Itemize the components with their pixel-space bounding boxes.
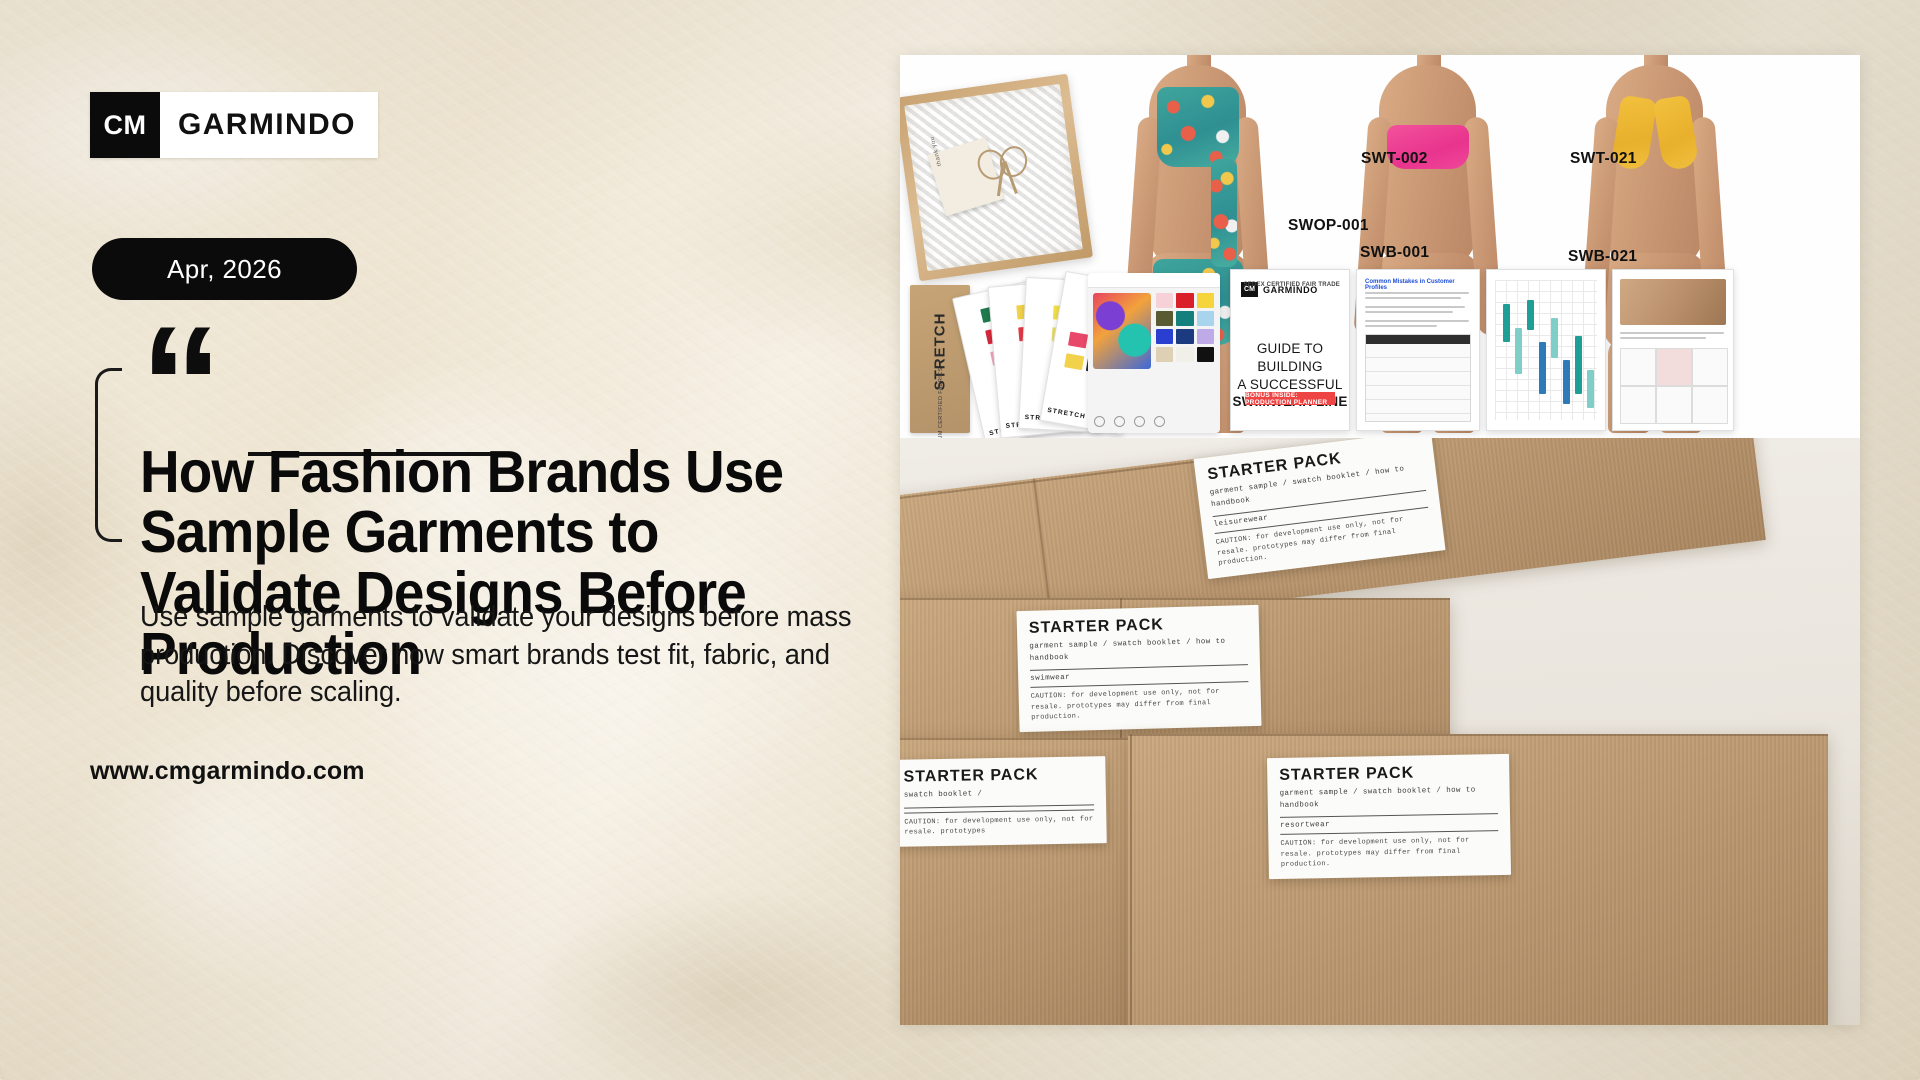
booklet-title-line2: A SUCCESSFUL	[1237, 377, 1342, 392]
product-code-swb-001: SWB-001	[1360, 244, 1429, 262]
swimwear-guide-booklet: CM GARMINDO SEDEX CERTIFIED FAIR TRADE G…	[1230, 269, 1350, 431]
ribbon-bow-icon	[976, 140, 1034, 191]
decorative-bracket	[95, 368, 122, 542]
pack-label-caution: CAUTION: for development use only, not f…	[1280, 835, 1499, 870]
document-table	[1365, 334, 1471, 422]
reference-photo	[1620, 279, 1726, 325]
product-code-swt-002: SWT-002	[1361, 150, 1428, 168]
palette-icon	[1134, 416, 1145, 427]
garment-top-1	[1157, 87, 1239, 167]
pack-label-title: STARTER PACK	[903, 765, 1093, 786]
pack-label-title: STARTER PACK	[1279, 763, 1497, 785]
pack-label-caution: CAUTION: for development use only, not f…	[1031, 686, 1250, 723]
gift-box-photo: thank you	[900, 74, 1093, 282]
production-timeline-chart	[1486, 269, 1606, 431]
swatch-card-label: STRETCH	[1047, 407, 1087, 421]
palette-icon	[1114, 416, 1125, 427]
date-badge-label: Apr, 2026	[167, 254, 282, 285]
starter-pack-label-2: STARTER PACK garment sample / swatch boo…	[1016, 605, 1261, 732]
website-url[interactable]: www.cmgarmindo.com	[90, 757, 365, 786]
booklet-title-line1: GUIDE TO BUILDING	[1257, 341, 1323, 374]
customer-profile-document: Common Mistakes in Customer Profiles	[1356, 269, 1480, 431]
product-code-swop-001: SWOP-001	[1288, 217, 1369, 235]
starter-pack-label-4: STARTER PACK garment sample / swatch boo…	[1267, 754, 1511, 879]
palette-tool-icons	[1094, 416, 1165, 427]
pack-label-caution: CAUTION: for development use only, not f…	[904, 814, 1094, 838]
pack-label-contents: garment sample / swatch booklet / how to…	[1280, 785, 1498, 812]
pack-label-contents: garment sample / swatch booklet / how to…	[1029, 636, 1248, 665]
materials-documents-row: STRETCH PREMIUM CERTIFIED FABRICS STRETC…	[900, 265, 1860, 440]
quote-mark-icon: “	[140, 325, 219, 444]
logo-mark: CM	[90, 92, 160, 158]
palette-icon	[1094, 416, 1105, 427]
pack-label-category: resortwear	[1280, 818, 1498, 830]
palette-chip-grid	[1156, 293, 1214, 362]
product-code-swb-021: SWB-021	[1568, 248, 1637, 266]
booklet-certification: SEDEX CERTIFIED FAIR TRADE	[1243, 281, 1340, 290]
starter-pack-boxes-photo: STARTER PACK garment sample / swatch boo…	[900, 438, 1860, 1025]
pack-label-title: STARTER PACK	[1029, 614, 1247, 638]
pack-label-contents: swatch booklet /	[904, 787, 1094, 802]
pack-label-category: swimwear	[1030, 669, 1248, 683]
date-badge: Apr, 2026	[92, 238, 357, 300]
starter-pack-label-3: STARTER PACK swatch booklet / CAUTION: f…	[900, 756, 1107, 846]
left-content-column: CM GARMINDO Apr, 2026 “ How Fashion Bran…	[0, 0, 900, 1080]
product-code-swt-021: SWT-021	[1570, 150, 1637, 168]
booklet-bonus-banner: BONUS INSIDE: PRODUCTION PLANNER	[1245, 392, 1335, 405]
page-subtitle: Use sample garments to validate your des…	[140, 599, 883, 712]
palette-artwork	[1093, 293, 1151, 369]
photo-collage-panel: thank you	[900, 55, 1860, 1025]
document-heading: Common Mistakes in Customer Profiles	[1365, 279, 1471, 291]
logo-name: GARMINDO	[160, 92, 378, 158]
brand-logo[interactable]: CM GARMINDO	[90, 92, 378, 158]
digital-swatch-palette	[1088, 273, 1220, 433]
garment-reference-document	[1612, 269, 1734, 431]
palette-icon	[1154, 416, 1165, 427]
